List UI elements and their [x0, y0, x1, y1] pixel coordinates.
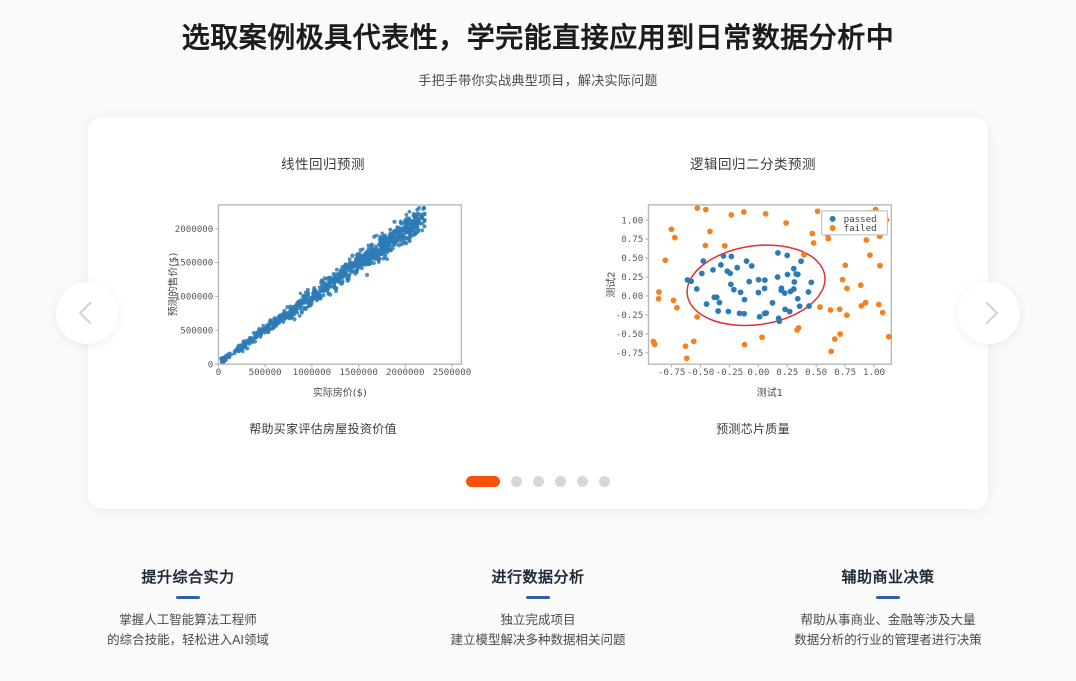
page-header: 选取案例极具代表性，学完能直接应用到日常数据分析中 手把手带你实战典型项目，解决… — [0, 0, 1076, 89]
logistic-regression-svg: -0.75-0.50-0.250.000.250.500.751.00 -0.7… — [588, 189, 918, 404]
svg-text:1.00: 1.00 — [621, 217, 643, 227]
pagination-dot[interactable] — [533, 476, 544, 487]
svg-text:1000000: 1000000 — [175, 293, 214, 303]
legend-swatch-failed — [830, 225, 836, 231]
logistic-regression-chart: -0.75-0.50-0.250.000.250.500.751.00 -0.7… — [588, 189, 918, 404]
legend-swatch-passed — [830, 216, 836, 222]
chart-legend: passed failed — [822, 211, 888, 235]
chevron-left-icon — [78, 302, 101, 325]
feature-description: 独立完成项目 建立模型解决多种数据相关问题 — [413, 610, 663, 651]
y-axis-ticks: -0.75-0.50-0.250.000.250.500.751.00 — [616, 217, 649, 360]
chevron-right-icon — [975, 302, 998, 325]
carousel-next-button[interactable] — [958, 282, 1020, 344]
x-axis-label: 实际房价($) — [313, 386, 367, 399]
feature-item: 提升综合实力 掌握人工智能算法工程师 的综合技能，轻松进入AI领域 — [63, 566, 313, 651]
svg-text:500000: 500000 — [249, 368, 282, 378]
linear-regression-svg: 0500000100000015000002000000 05000001000… — [158, 189, 488, 404]
feature-description: 掌握人工智能算法工程师 的综合技能，轻松进入AI领域 — [63, 610, 313, 651]
page-subtitle: 手把手带你实战典型项目，解决实际问题 — [0, 70, 1076, 89]
feature-title: 提升综合实力 — [63, 566, 313, 587]
pagination-dot[interactable] — [511, 476, 522, 487]
feature-description-line: 建立模型解决多种数据相关问题 — [413, 630, 663, 651]
svg-text:0.00: 0.00 — [747, 368, 769, 378]
svg-text:0.75: 0.75 — [621, 236, 643, 246]
carousel-slide-linear-regression[interactable]: 线性回归预测 0500000100000015000002000000 0500… — [108, 153, 538, 437]
feature-description-line: 数据分析的行业的管理者进行决策 — [763, 630, 1013, 651]
slide-title: 逻辑回归二分类预测 — [690, 153, 816, 173]
y-axis-label: 测试2 — [605, 272, 618, 298]
slide-caption: 预测芯片质量 — [716, 420, 790, 437]
carousel-prev-button[interactable] — [56, 282, 118, 344]
svg-text:0.25: 0.25 — [776, 368, 798, 378]
carousel-slides: 线性回归预测 0500000100000015000002000000 0500… — [88, 117, 988, 437]
page-root: 选取案例极具代表性，学完能直接应用到日常数据分析中 手把手带你实战典型项目，解决… — [0, 0, 1076, 681]
carousel-slide-logistic-regression[interactable]: 逻辑回归二分类预测 -0.75-0.50-0.250.000.250.500.7… — [538, 153, 968, 437]
feature-description: 帮助从事商业、金融等涉及大量 数据分析的行业的管理者进行决策 — [763, 610, 1013, 651]
feature-title: 进行数据分析 — [413, 566, 663, 587]
feature-description-line: 掌握人工智能算法工程师 — [63, 610, 313, 631]
svg-text:-0.25: -0.25 — [616, 311, 644, 321]
x-axis-ticks: -0.75-0.50-0.250.000.250.500.751.00 — [658, 365, 885, 379]
feature-item: 辅助商业决策 帮助从事商业、金融等涉及大量 数据分析的行业的管理者进行决策 — [763, 566, 1013, 651]
svg-text:-0.50: -0.50 — [687, 368, 715, 378]
svg-text:2500000: 2500000 — [433, 368, 472, 378]
svg-text:-0.75: -0.75 — [616, 349, 644, 359]
svg-text:0.75: 0.75 — [834, 368, 856, 378]
svg-text:-0.25: -0.25 — [716, 368, 744, 378]
svg-text:0: 0 — [216, 368, 222, 378]
svg-text:1500000: 1500000 — [175, 259, 214, 269]
feature-item: 进行数据分析 独立完成项目 建立模型解决多种数据相关问题 — [413, 566, 663, 651]
pagination-dot[interactable] — [555, 476, 566, 487]
svg-text:0: 0 — [208, 361, 214, 371]
carousel-card: 线性回归预测 0500000100000015000002000000 0500… — [88, 117, 988, 509]
x-axis-ticks: 05000001000000150000020000002500000 — [216, 365, 472, 379]
linear-regression-chart: 0500000100000015000002000000 05000001000… — [158, 189, 488, 404]
feature-description-line: 独立完成项目 — [413, 610, 663, 631]
svg-text:1000000: 1000000 — [293, 368, 332, 378]
y-axis-ticks: 0500000100000015000002000000 — [175, 225, 219, 371]
svg-text:0.00: 0.00 — [621, 293, 643, 303]
feature-list: 提升综合实力 掌握人工智能算法工程师 的综合技能，轻松进入AI领域 进行数据分析… — [0, 566, 1076, 651]
feature-description-line: 的综合技能，轻松进入AI领域 — [63, 630, 313, 651]
page-title: 选取案例极具代表性，学完能直接应用到日常数据分析中 — [0, 20, 1076, 56]
slide-caption: 帮助买家评估房屋投资价值 — [249, 420, 397, 437]
svg-text:0.25: 0.25 — [621, 274, 643, 284]
svg-text:2000000: 2000000 — [175, 225, 214, 235]
feature-divider — [176, 596, 200, 599]
carousel: 线性回归预测 0500000100000015000002000000 0500… — [88, 117, 988, 509]
svg-text:1.00: 1.00 — [863, 368, 885, 378]
feature-description-line: 帮助从事商业、金融等涉及大量 — [763, 610, 1013, 631]
legend-label-failed: failed — [844, 225, 877, 235]
pagination-dot[interactable] — [599, 476, 610, 487]
feature-divider — [526, 596, 550, 599]
carousel-pagination — [88, 476, 988, 487]
pagination-dot[interactable] — [577, 476, 588, 487]
feature-title: 辅助商业决策 — [763, 566, 1013, 587]
svg-text:2000000: 2000000 — [386, 368, 425, 378]
slide-title: 线性回归预测 — [281, 153, 365, 173]
feature-divider — [876, 596, 900, 599]
svg-text:-0.50: -0.50 — [616, 330, 644, 340]
pagination-dot-active[interactable] — [466, 476, 500, 487]
x-axis-label: 测试1 — [757, 386, 783, 399]
svg-text:-0.75: -0.75 — [658, 368, 686, 378]
svg-text:1500000: 1500000 — [339, 368, 378, 378]
y-axis-label: 预测的售价($) — [167, 253, 180, 317]
svg-text:0.50: 0.50 — [621, 255, 643, 265]
svg-text:0.50: 0.50 — [805, 368, 827, 378]
svg-text:500000: 500000 — [180, 327, 213, 337]
